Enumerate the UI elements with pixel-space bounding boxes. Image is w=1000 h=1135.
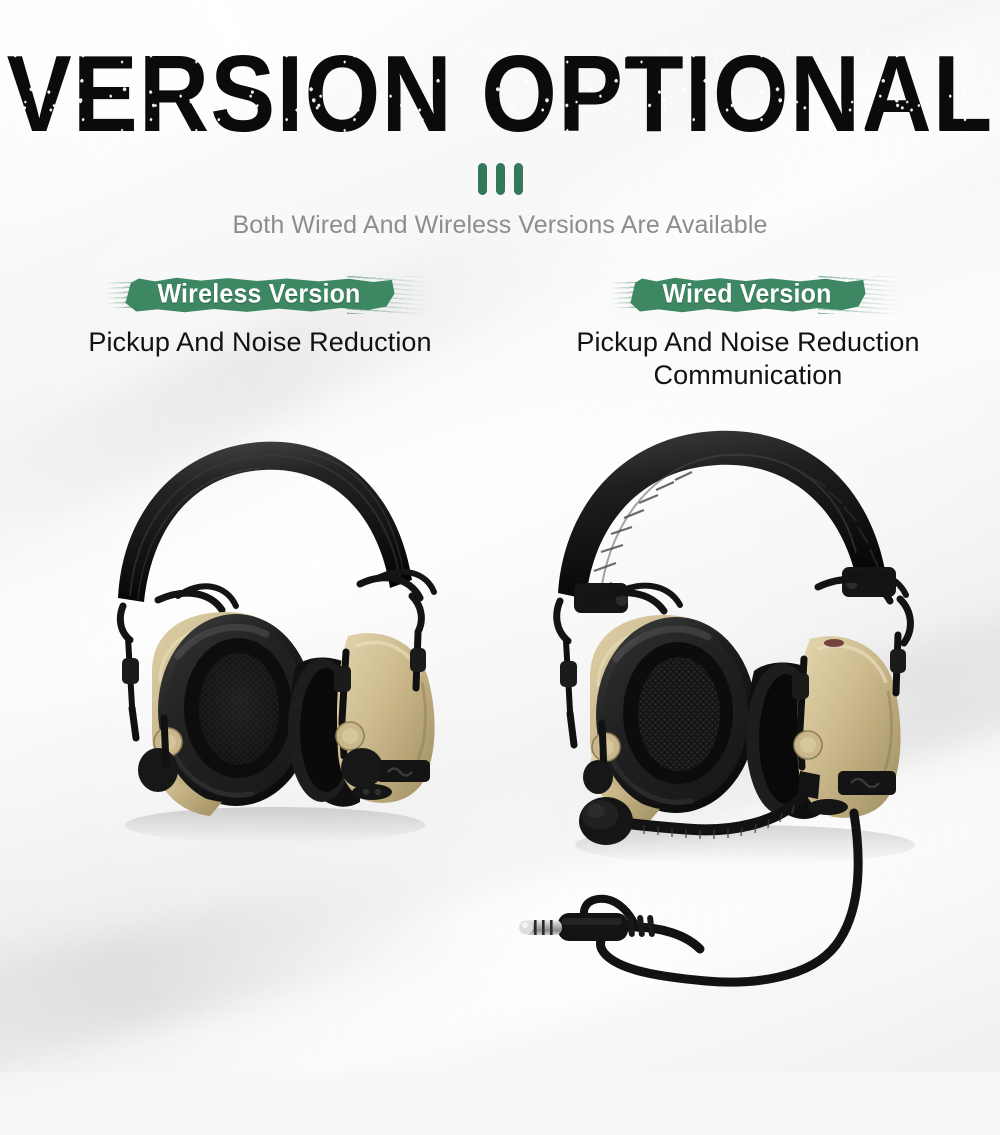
left-arm	[560, 641, 577, 745]
page-title: VERSION OPTIONAL	[0, 38, 1000, 151]
product-shadow	[125, 807, 425, 843]
left-arm	[122, 638, 139, 738]
divider-bar-3	[514, 163, 523, 195]
wired-headset-svg	[510, 415, 980, 1035]
page-title-text-wrapper: VERSION OPTIONAL	[7, 38, 994, 151]
status-indicator	[824, 639, 844, 647]
battery-cover	[376, 760, 430, 782]
badge-label: Wireless Version	[157, 271, 360, 318]
feature-text-wireless: Pickup And Noise Reduction	[20, 326, 500, 359]
foam-mic-pad	[138, 748, 178, 792]
wireless-headset-svg	[60, 420, 480, 850]
wired-headset-image	[510, 415, 980, 1035]
column-wireless: Wireless Version Pickup And Noise Reduct…	[20, 272, 500, 359]
plug-metal-tip	[519, 920, 562, 935]
right-ear-cup	[746, 636, 901, 819]
divider-bar-2	[496, 163, 505, 195]
three-bars-icon	[0, 163, 1000, 195]
feature-line: Pickup And Noise Reduction	[508, 326, 988, 359]
badge-wireless-version: Wireless Version	[125, 272, 394, 316]
page-subtitle: Both Wired And Wireless Versions Are Ava…	[0, 211, 1000, 240]
feature-text-wired: Pickup And Noise Reduction Communication	[508, 326, 988, 392]
right-yoke-clip	[890, 649, 906, 673]
divider-bar-1	[478, 163, 487, 195]
feature-line: Pickup And Noise Reduction	[20, 326, 500, 359]
wireless-headset-image	[60, 420, 480, 850]
left-ear-cup	[590, 615, 756, 823]
foam-mic-pad	[341, 748, 383, 788]
control-panel	[838, 771, 896, 795]
page-title-text: VERSION OPTIONAL	[7, 34, 994, 154]
badge-wired-version: Wired Version	[630, 272, 865, 316]
plug-barrel	[558, 913, 628, 941]
badge-label: Wired Version	[662, 271, 831, 318]
product-images	[0, 415, 1000, 1072]
headband-ribbed	[558, 431, 896, 613]
feature-line: Communication	[508, 359, 988, 392]
column-wired: Wired Version Pickup And Noise Reduction…	[508, 272, 988, 392]
right-yoke-clip	[410, 648, 426, 672]
